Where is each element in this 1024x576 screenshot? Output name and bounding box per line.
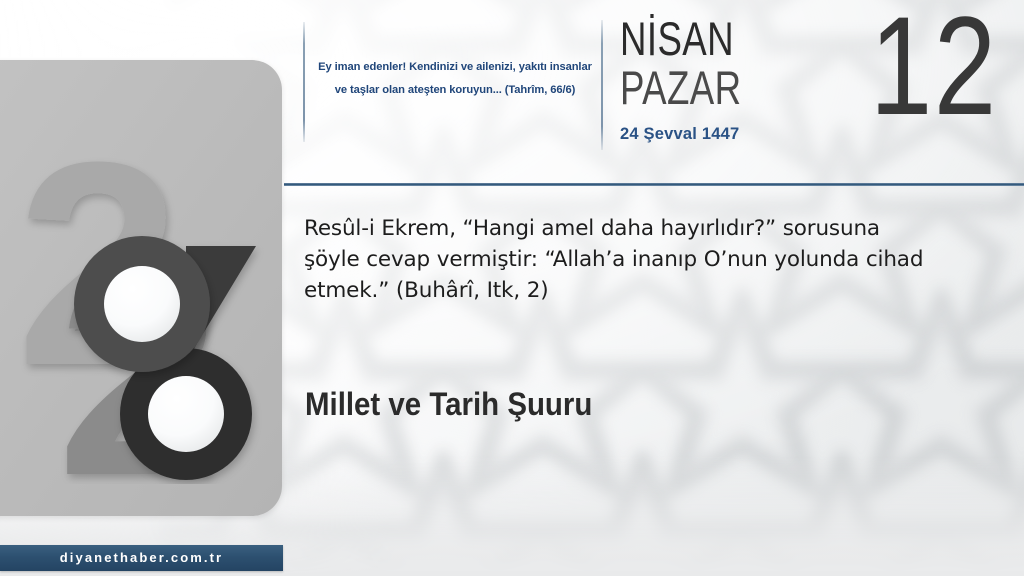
calendar-page: 2 2 Ey i bbox=[0, 0, 1024, 576]
logo-panel: 2 2 bbox=[0, 60, 282, 516]
date-block: NİSAN PAZAR 24 Şevval 1447 bbox=[620, 18, 870, 144]
month-label: NİSAN bbox=[620, 18, 815, 59]
year-2026-logo: 2 2 bbox=[10, 114, 282, 484]
page-title: Millet ve Tarih Şuuru bbox=[305, 386, 592, 423]
weekday-label: PAZAR bbox=[620, 67, 815, 108]
logo-dot-upper bbox=[104, 266, 180, 342]
divider-vertical-right bbox=[601, 20, 603, 150]
website-footer-bar[interactable]: diyanethaber.com.tr bbox=[0, 545, 283, 571]
logo-dot-lower bbox=[148, 376, 224, 452]
divider-horizontal bbox=[284, 183, 1024, 186]
hadith-quote: Resûl-i Ekrem, “Hangi amel daha hayırlıd… bbox=[304, 213, 934, 306]
verse-text: Ey iman edenler! Kendinizi ve ailenizi, … bbox=[316, 56, 594, 102]
day-number: 12 bbox=[870, 0, 998, 136]
website-url: diyanethaber.com.tr bbox=[0, 545, 283, 571]
divider-vertical-left bbox=[303, 22, 305, 142]
hijri-date: 24 Şevval 1447 bbox=[620, 125, 870, 144]
